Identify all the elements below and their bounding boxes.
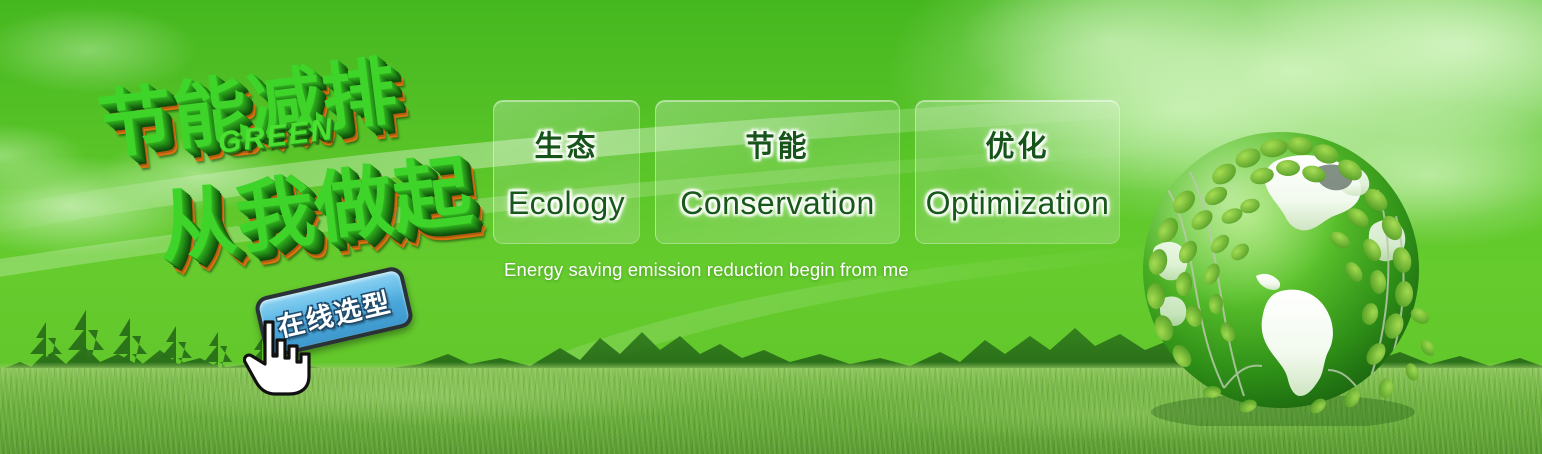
feature-card-conservation[interactable]: 节能 Conservation <box>655 100 900 244</box>
treeline <box>0 292 1542 382</box>
feature-card-cn-label: 节能 <box>745 123 809 165</box>
feature-card-ecology[interactable]: 生态 Ecology <box>493 100 640 244</box>
headline-3d: 节能减排 GREEN 从我做起 <box>79 16 504 293</box>
grass-horizon <box>0 362 1542 370</box>
feature-card-en-label: Conservation <box>680 185 875 222</box>
feature-card-optimization[interactable]: 优化 Optimization <box>915 100 1120 244</box>
green-energy-banner: 节能减排 GREEN 从我做起 在线选型 生态 Ecology 节能 Conse… <box>0 0 1542 454</box>
tagline-text: Energy saving emission reduction begin f… <box>504 259 909 281</box>
online-selection-button[interactable]: 在线选型 <box>253 265 415 360</box>
grass-field <box>0 368 1542 454</box>
feature-card-cn-label: 优化 <box>985 123 1049 165</box>
feature-card-cn-label: 生态 <box>534 123 598 165</box>
feature-card-en-label: Optimization <box>926 185 1110 222</box>
online-selection-label: 在线选型 <box>273 280 395 344</box>
green-globe-icon <box>1128 120 1434 426</box>
feature-card-en-label: Ecology <box>508 185 625 222</box>
